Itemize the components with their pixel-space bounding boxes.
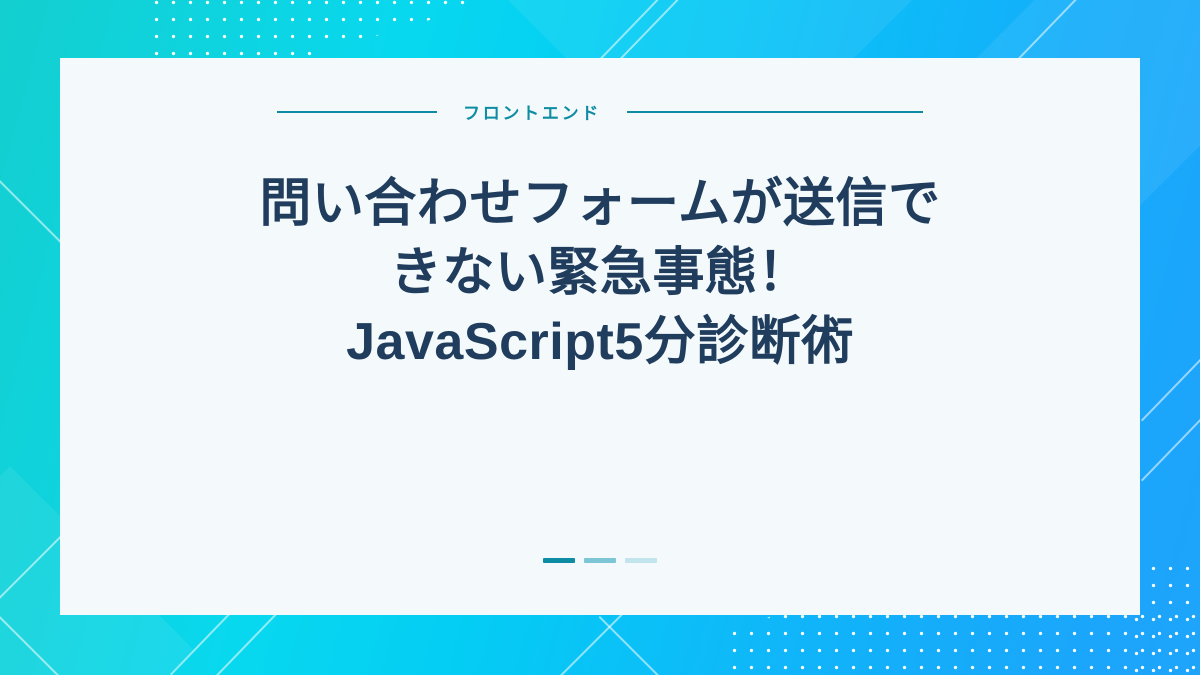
title-line-1: 問い合わせフォームが送信で [60,170,1140,239]
pagination-dash-3[interactable] [625,558,657,563]
content-card: フロントエンド 問い合わせフォームが送信で きない緊急事態！ JavaScrip… [60,58,1140,615]
title-line-2: きない緊急事態！ [60,239,1140,308]
eyecatch-banner: フロントエンド 問い合わせフォームが送信で きない緊急事態！ JavaScrip… [0,0,1200,675]
eyebrow-rule-right [627,111,923,113]
category-eyebrow: フロントエンド [60,99,1140,124]
category-label: フロントエンド [437,99,627,124]
page-title: 問い合わせフォームが送信で きない緊急事態！ JavaScript5分診断術 [60,170,1140,377]
pagination-dash-1[interactable] [543,558,575,563]
pagination-dashes [60,558,1140,563]
title-line-3: JavaScript5分診断術 [60,308,1140,377]
pagination-dash-2[interactable] [584,558,616,563]
eyebrow-rule-left [277,111,437,113]
